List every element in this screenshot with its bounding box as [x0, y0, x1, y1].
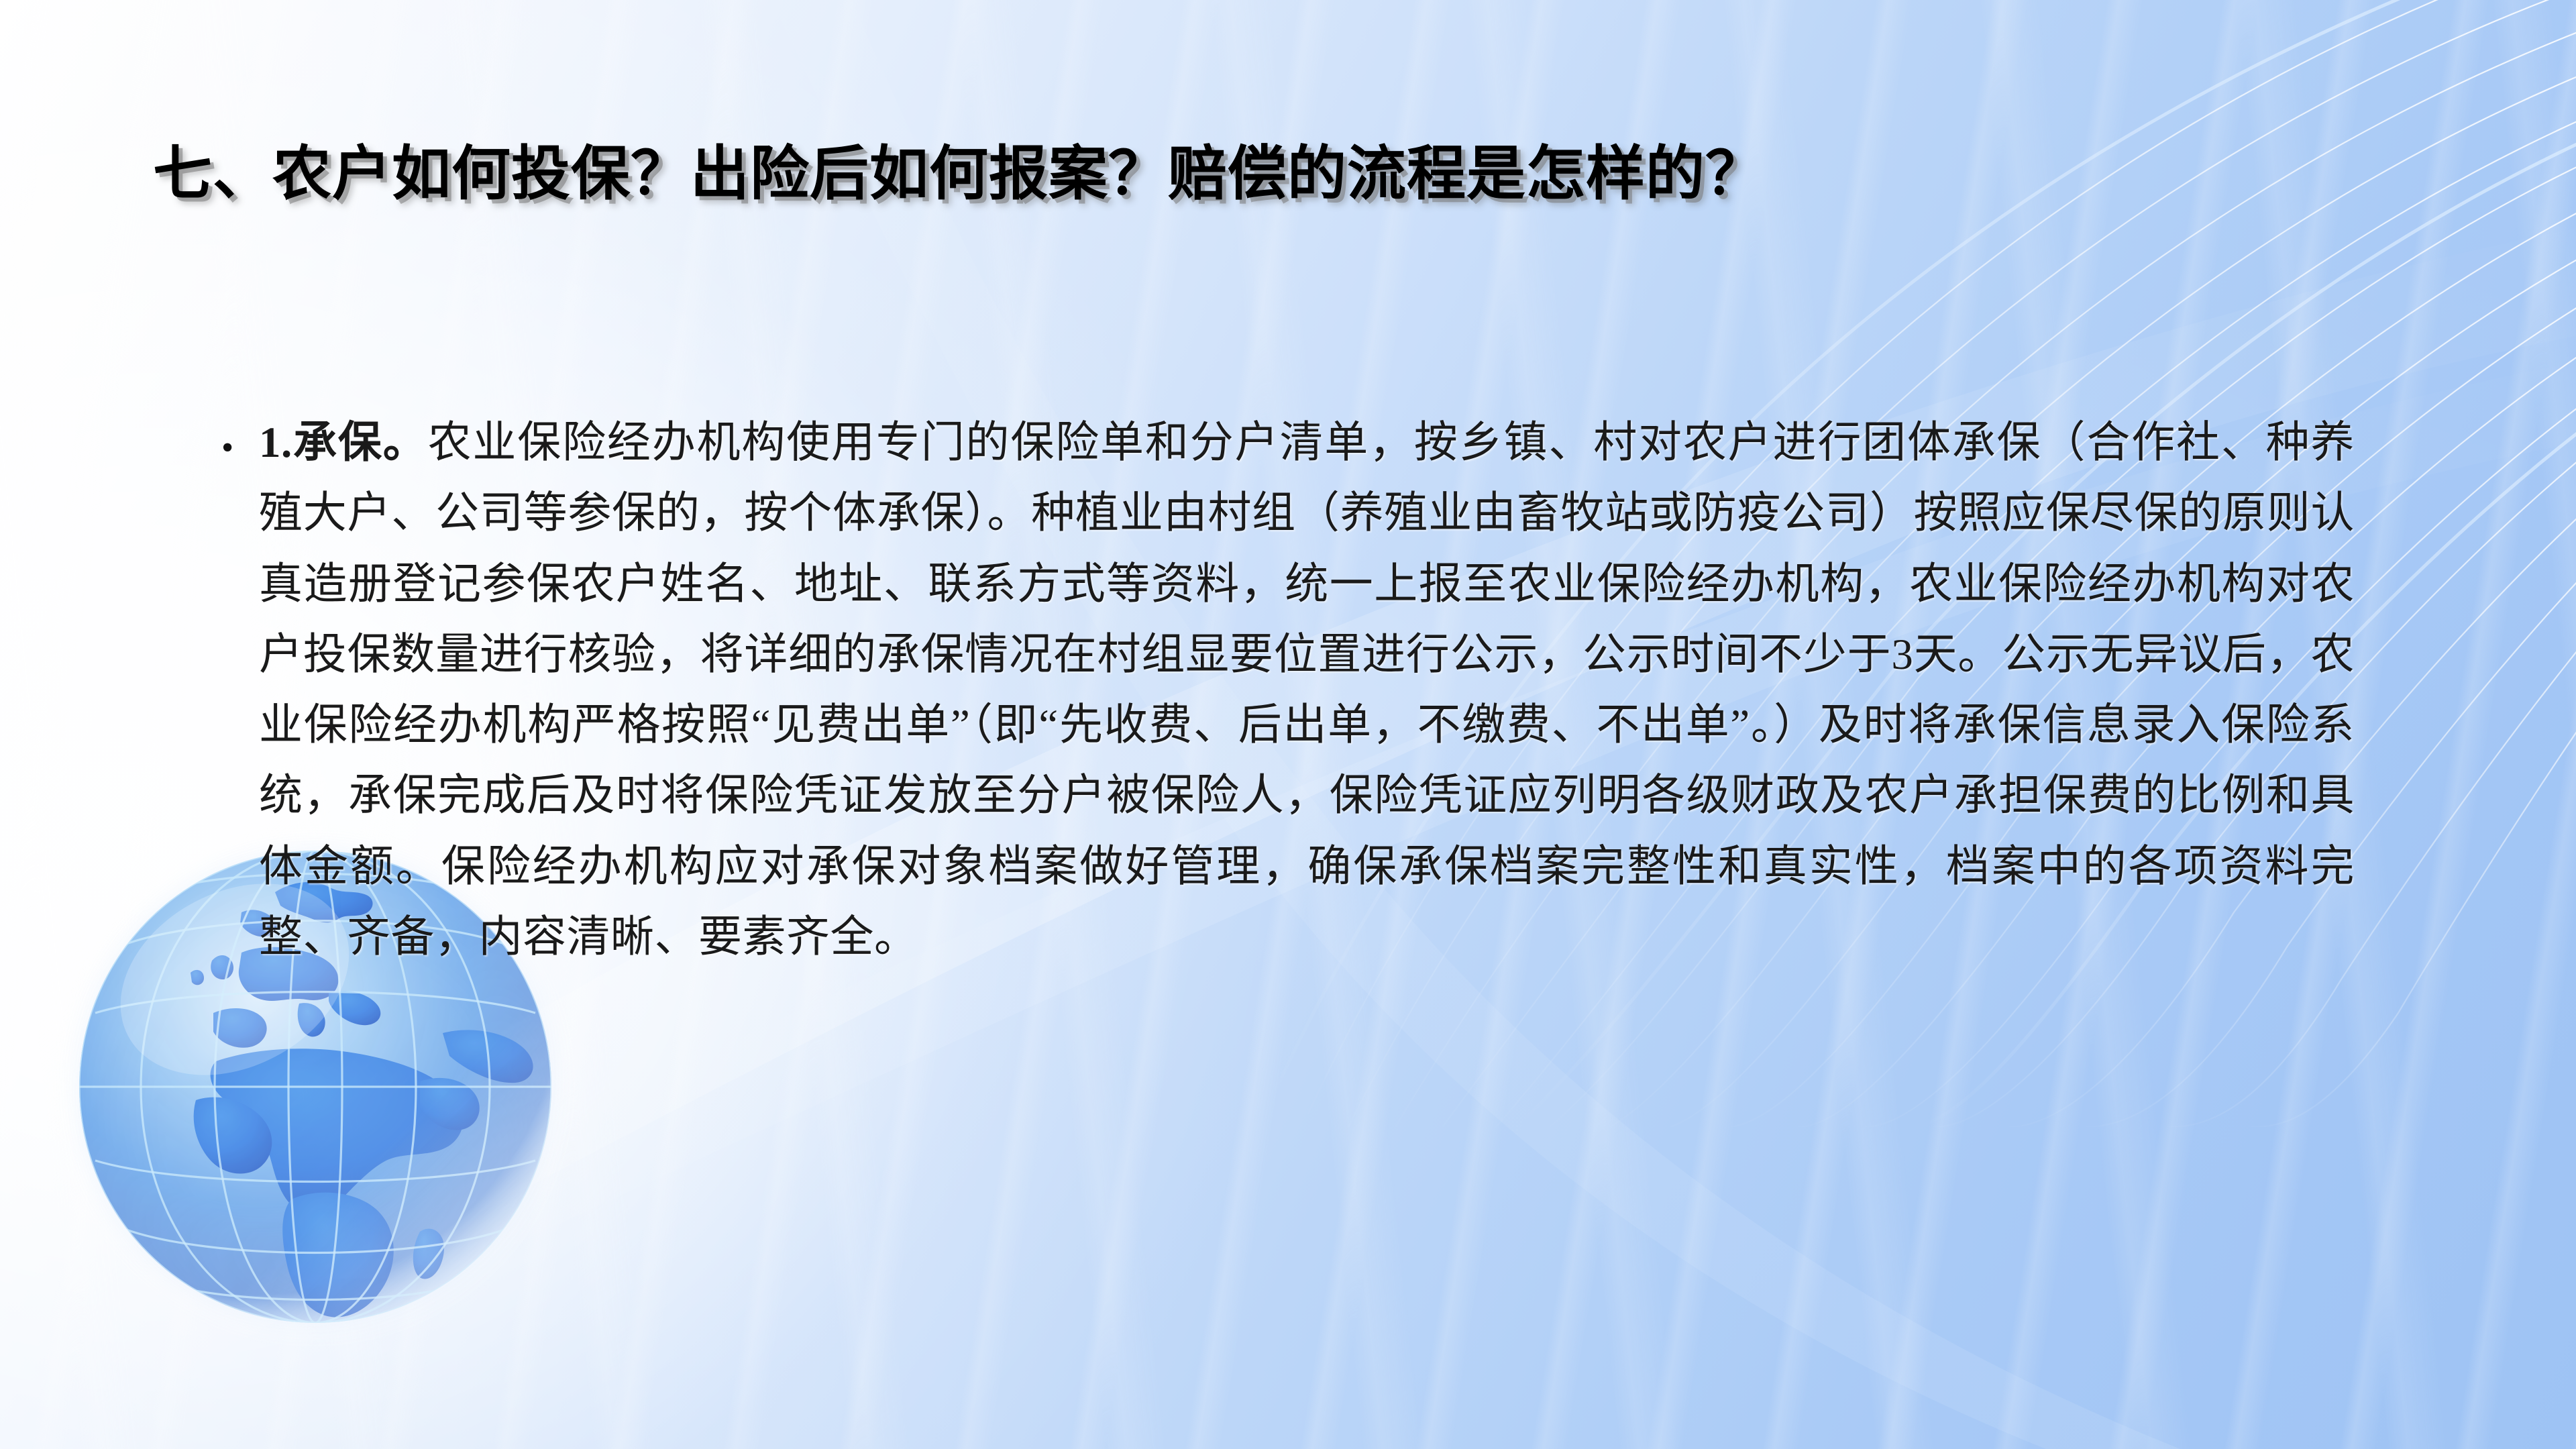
- list-item: • 1.承保。农业保险经办机构使用专门的保险单和分户清单，按乡镇、村对农户进行团…: [221, 408, 2355, 973]
- body-container: • 1.承保。农业保险经办机构使用专门的保险单和分户清单，按乡镇、村对农户进行团…: [221, 408, 2355, 973]
- page-title: 七、农户如何投保？出险后如何报案？赔偿的流程是怎样的？: [153, 141, 2434, 209]
- body-paragraph-text: 农业保险经办机构使用专门的保险单和分户清单，按乡镇、村对农户进行团体承保（合作社…: [259, 419, 2355, 961]
- body-lead-label: 1.承保。: [259, 419, 428, 467]
- bullet-marker: •: [221, 408, 259, 466]
- title-container: 七、农户如何投保？出险后如何报案？赔偿的流程是怎样的？: [153, 141, 2434, 209]
- slide-canvas: 七、农户如何投保？出险后如何报案？赔偿的流程是怎样的？ • 1.承保。农业保险经…: [0, 0, 2576, 1449]
- body-paragraph: 1.承保。农业保险经办机构使用专门的保险单和分户清单，按乡镇、村对农户进行团体承…: [259, 408, 2355, 973]
